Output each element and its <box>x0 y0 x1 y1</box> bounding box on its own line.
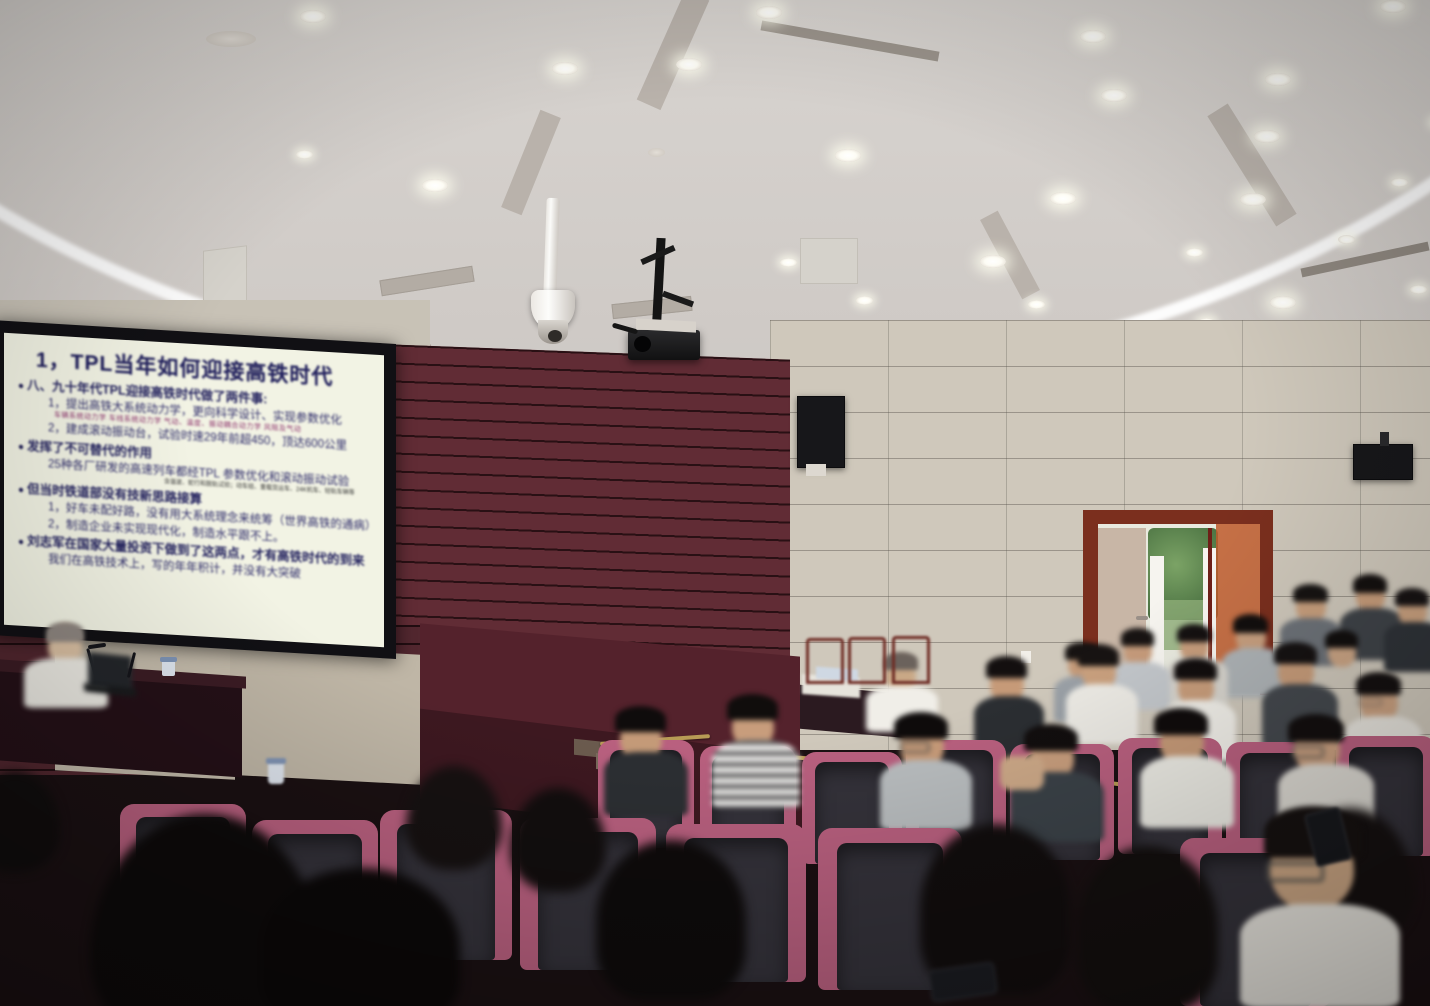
eyeglasses-icon <box>1266 862 1324 882</box>
camera-lens-icon <box>548 330 562 342</box>
foreground-head <box>596 840 746 1000</box>
audience-hair <box>894 712 948 739</box>
audience-hair <box>1024 724 1078 751</box>
speaker-bracket <box>806 464 826 476</box>
foreground-head <box>510 788 606 892</box>
paper-cup-lid <box>266 758 286 764</box>
projection-screen: 1，TPL当年如何迎接高铁时代 八、九十年代TPL迎接高铁时代做了两件事: 1，… <box>4 333 384 648</box>
projector-lens-icon <box>634 336 651 352</box>
presenter-hair <box>46 622 84 642</box>
audience-hair <box>727 694 778 720</box>
audience-hair <box>1353 574 1387 593</box>
foreground-audience <box>0 760 1430 1006</box>
audience-body <box>1240 904 1400 1006</box>
audience-hair <box>1293 584 1328 602</box>
audience-hair <box>986 656 1027 678</box>
presentation-slide: 1，TPL当年如何迎接高铁时代 八、九十年代TPL迎接高铁时代做了两件事: 1，… <box>4 333 384 648</box>
podium-water-cup-lid <box>160 657 177 662</box>
audience-hand <box>1000 756 1044 790</box>
audience-hair <box>1154 708 1208 735</box>
audience-hair <box>1078 644 1119 666</box>
wall-speaker-right <box>1353 444 1413 480</box>
audience-hair <box>615 706 666 732</box>
wooden-chair <box>892 636 930 684</box>
wall-speaker-left <box>797 396 845 468</box>
eyeglasses-icon <box>900 742 930 753</box>
wooden-chair <box>806 638 844 684</box>
paper-cup <box>268 762 284 784</box>
foreground-head <box>406 766 502 870</box>
wooden-chair <box>848 637 886 684</box>
eyeglasses-icon <box>1292 746 1324 758</box>
audience-hair <box>1288 714 1344 742</box>
audience-hair <box>1395 588 1429 606</box>
lecture-hall-photo: 1，TPL当年如何迎接高铁时代 八、九十年代TPL迎接高铁时代做了两件事: 1，… <box>0 0 1430 1006</box>
speaker-bracket <box>1380 432 1389 446</box>
foreground-head <box>0 772 60 872</box>
audience-hair <box>1274 642 1317 664</box>
audience-hair <box>1174 658 1217 680</box>
podium-water-cup <box>162 660 175 676</box>
foreground-head <box>1078 846 1218 1006</box>
